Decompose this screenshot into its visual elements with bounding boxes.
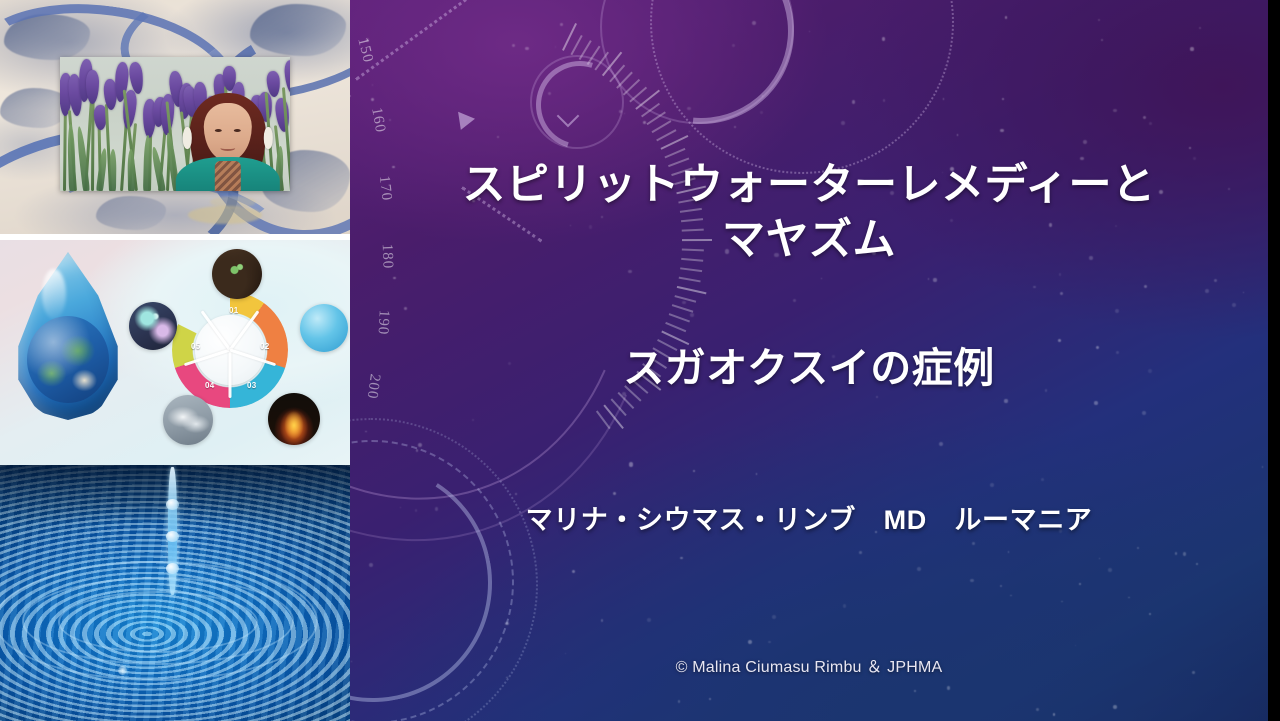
element-circle-soil-sprout — [212, 249, 262, 299]
ripple-ring — [58, 591, 258, 653]
author-line: マリナ・シウマス・リンブ MD ルーマニア — [350, 498, 1268, 537]
webcam-panel[interactable] — [0, 0, 350, 234]
presentation-slide[interactable]: 140 150 160 170 180 190 200 スピリットウォーターレメ… — [350, 0, 1268, 721]
wheel-label-02: 02 — [260, 342, 270, 351]
slide-subtitle: スガオクスイの症例 — [350, 334, 1268, 394]
globe-inside-drop — [27, 316, 109, 403]
water-bead — [166, 531, 179, 542]
water-bead — [166, 499, 179, 510]
title-line-1: スピリットウォーターレメディーと — [398, 158, 1220, 213]
wheel-label-03: 03 — [247, 381, 257, 390]
drop-highlight — [42, 269, 66, 319]
painting-sandbar — [188, 206, 262, 224]
elements-panel[interactable]: 01 02 03 04 05 — [0, 240, 350, 465]
webcam-video-tile[interactable] — [60, 57, 290, 191]
wheel-label-05: 05 — [191, 342, 201, 351]
lavender-leaf — [109, 149, 117, 191]
presenter-avatar — [168, 87, 288, 191]
painting-sandbar — [210, 196, 256, 208]
element-circle-cloud — [163, 395, 213, 445]
earring — [264, 127, 273, 149]
wheel-label-04: 04 — [205, 381, 215, 390]
wheel-spoke — [229, 350, 232, 398]
earring — [183, 127, 192, 149]
painting-rock — [250, 4, 346, 56]
water-highlight — [118, 666, 127, 675]
slide-text-layer: スピリットウォーターレメディーと マヤズム スガオクスイの症例 マリナ・シウマス… — [350, 0, 1268, 721]
earth-water-drop-image — [14, 252, 122, 420]
painting-rock — [4, 14, 90, 60]
right-black-edge — [1268, 0, 1280, 721]
screen: 01 02 03 04 05 — [0, 0, 1280, 721]
slide-title: スピリットウォーターレメディーと マヤズム — [350, 158, 1268, 268]
mouth — [220, 145, 235, 151]
wheel-label-01: 01 — [229, 306, 239, 315]
eye — [234, 129, 241, 132]
slide-footer: © Malina Ciumasu Rimbu ＆ JPHMA — [350, 653, 1268, 677]
left-media-column: 01 02 03 04 05 — [0, 0, 350, 721]
scarf — [215, 161, 241, 191]
element-circle-ice — [300, 304, 348, 352]
slide-author: マリナ・シウマス・リンブ MD ルーマニア — [350, 498, 1268, 537]
subtitle-line-1: スガオクスイの症例 — [350, 334, 1268, 394]
lavender-leaf — [127, 149, 135, 191]
five-element-wheel: 01 02 03 04 05 — [172, 292, 288, 408]
lavender-flower — [86, 70, 99, 104]
element-circle-cosmos — [129, 302, 177, 350]
lavender-stem — [63, 110, 67, 191]
water-panel[interactable] — [0, 465, 350, 721]
title-line-2: マヤズム — [398, 213, 1220, 268]
eye — [215, 129, 222, 132]
painting-rock — [96, 196, 166, 230]
lavender-leaf — [67, 124, 76, 191]
element-circle-fire — [268, 393, 320, 445]
copyright-line: © Malina Ciumasu Rimbu ＆ JPHMA — [350, 653, 1268, 677]
